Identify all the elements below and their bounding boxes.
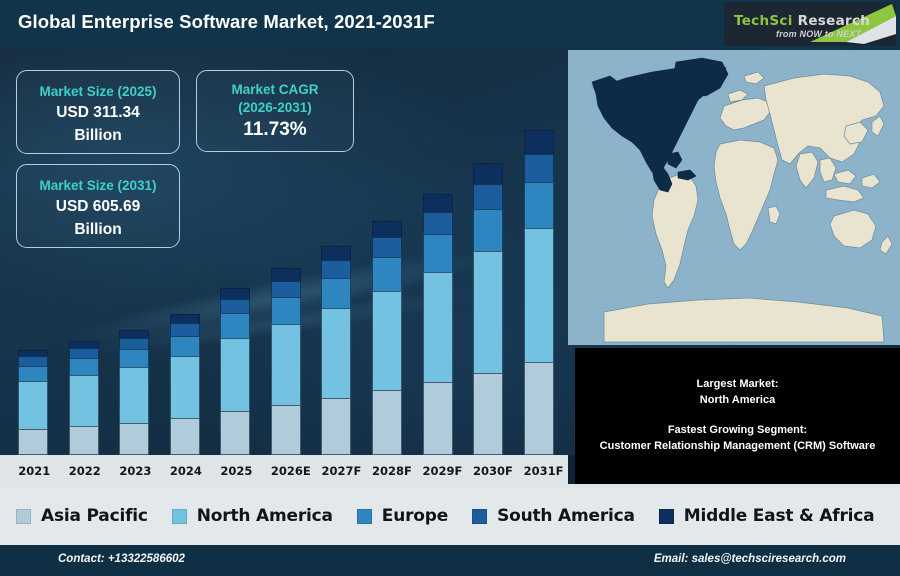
- bar-segment: [69, 375, 99, 427]
- bar-segment: [473, 251, 503, 373]
- x-axis-tick-label: 2022: [69, 464, 99, 478]
- stat-card-market-size-2031: Market Size (2031) USD 605.69 Billion: [16, 164, 180, 248]
- bar-segment: [119, 423, 149, 455]
- bar-segment: [170, 314, 200, 323]
- bar-segment: [372, 237, 402, 257]
- infographic-root: Global Enterprise Software Market, 2021-…: [0, 0, 900, 576]
- x-axis-tick-label: 2023: [119, 464, 149, 478]
- bar-column: [18, 350, 48, 455]
- x-axis-tick-label: 2028F: [372, 464, 402, 478]
- bar-column: [473, 163, 503, 455]
- chart-legend: Asia PacificNorth AmericaEuropeSouth Ame…: [0, 487, 900, 545]
- bar-segment: [321, 246, 351, 260]
- techsci-research-logo: TechSci Research from NOW to NEXT: [724, 2, 896, 46]
- bar-column: [69, 341, 99, 455]
- bar-segment: [220, 299, 250, 314]
- legend-swatch-icon: [472, 509, 487, 524]
- legend-label: South America: [497, 506, 635, 526]
- bar-segment: [524, 182, 554, 228]
- legend-swatch-icon: [172, 509, 187, 524]
- legend-swatch-icon: [16, 509, 31, 524]
- bar-segment: [220, 338, 250, 411]
- bar-segment: [524, 228, 554, 363]
- stat-value-line1: USD 605.69: [17, 195, 179, 218]
- logo-text-techsci: TechSci: [734, 13, 793, 29]
- bar-segment: [18, 381, 48, 429]
- bar-column: [220, 288, 250, 455]
- bar-segment: [473, 209, 503, 250]
- bar-segment: [321, 398, 351, 455]
- bar-segment: [220, 288, 250, 299]
- legend-item[interactable]: Europe: [357, 506, 448, 526]
- legend-swatch-icon: [357, 509, 372, 524]
- x-axis-tick-label: 2027F: [321, 464, 351, 478]
- logo-text-research: Research: [793, 13, 871, 29]
- bar-segment: [119, 367, 149, 423]
- legend-label: North America: [197, 506, 333, 526]
- stat-card-market-size-2025: Market Size (2025) USD 311.34 Billion: [16, 70, 180, 154]
- bar-segment: [271, 281, 301, 297]
- legend-swatch-icon: [659, 509, 674, 524]
- stat-value-line2: Billion: [17, 218, 179, 241]
- x-axis-tick-label: 2026E: [271, 464, 301, 478]
- stat-card-market-cagr: Market CAGR (2026-2031) 11.73%: [196, 70, 354, 152]
- bar-segment: [69, 358, 99, 375]
- bar-segment: [69, 341, 99, 348]
- bar-segment: [372, 221, 402, 237]
- stat-value-cagr: 11.73%: [197, 119, 353, 141]
- bar-segment: [473, 373, 503, 455]
- fastest-segment-value: Customer Relationship Management (CRM) S…: [575, 439, 900, 455]
- map-highlight-north-america: [592, 58, 728, 192]
- bar-segment: [69, 426, 99, 455]
- bar-segment: [372, 291, 402, 391]
- largest-market-label: Largest Market:: [575, 377, 900, 393]
- bar-segment: [372, 257, 402, 291]
- footer-bar: Contact: +13322586602 Email: sales@techs…: [0, 545, 900, 576]
- bar-segment: [423, 212, 453, 234]
- page-title: Global Enterprise Software Market, 2021-…: [18, 11, 435, 33]
- bar-column: [321, 246, 351, 455]
- bar-segment: [18, 366, 48, 382]
- x-axis-labels: 202120222023202420252026E2027F2028F2029F…: [8, 455, 564, 487]
- stat-label: Market Size (2031): [17, 177, 179, 195]
- bar-column: [119, 330, 149, 455]
- legend-label: Middle East & Africa: [684, 506, 875, 526]
- legend-item[interactable]: Middle East & Africa: [659, 506, 875, 526]
- x-axis-tick-label: 2031F: [524, 464, 554, 478]
- world-map: [568, 50, 900, 345]
- bar-column: [170, 314, 200, 455]
- legend-label: Europe: [382, 506, 448, 526]
- footer-contact: Contact: +13322586602: [58, 553, 185, 565]
- bar-column: [423, 194, 453, 455]
- x-axis-tick-label: 2029F: [423, 464, 453, 478]
- bar-segment: [170, 356, 200, 418]
- legend-item[interactable]: North America: [172, 506, 333, 526]
- legend-label: Asia Pacific: [41, 506, 148, 526]
- bar-segment: [271, 297, 301, 324]
- key-insights-box: Largest Market: North America Fastest Gr…: [575, 348, 900, 484]
- bar-segment: [170, 336, 200, 357]
- bar-segment: [220, 411, 250, 455]
- x-axis-tick-label: 2030F: [473, 464, 503, 478]
- bar-segment: [271, 324, 301, 405]
- bar-segment: [423, 194, 453, 212]
- logo-wordmark: TechSci Research: [734, 13, 870, 29]
- footer-email: Email: sales@techsciresearch.com: [654, 553, 846, 565]
- stat-value-line1: USD 311.34: [17, 101, 179, 124]
- bar-segment: [321, 308, 351, 398]
- bar-column: [524, 130, 554, 455]
- bar-segment: [119, 349, 149, 367]
- x-axis-tick-label: 2025: [220, 464, 250, 478]
- stat-value-line2: Billion: [17, 124, 179, 147]
- world-map-svg: [568, 50, 900, 345]
- stat-label: Market CAGR: [197, 81, 353, 99]
- bar-segment: [220, 313, 250, 337]
- bar-segment: [321, 278, 351, 308]
- bar-segment: [18, 429, 48, 455]
- largest-market-value: North America: [575, 393, 900, 409]
- bar-column: [271, 268, 301, 455]
- bar-segment: [423, 272, 453, 383]
- bar-segment: [423, 234, 453, 271]
- stat-label-period: (2026-2031): [197, 99, 353, 117]
- bar-segment: [119, 338, 149, 349]
- logo-tagline: from NOW to NEXT: [776, 29, 861, 39]
- info-spacer: [575, 409, 900, 423]
- header-bar: Global Enterprise Software Market, 2021-…: [0, 0, 900, 48]
- fastest-segment-label: Fastest Growing Segment:: [575, 423, 900, 439]
- bar-segment: [524, 362, 554, 455]
- bar-segment: [321, 260, 351, 278]
- bar-segment: [271, 405, 301, 455]
- x-axis-tick-label: 2021: [18, 464, 48, 478]
- bar-column: [372, 221, 402, 455]
- x-axis-strip: 202120222023202420252026E2027F2028F2029F…: [0, 455, 568, 487]
- legend-item[interactable]: Asia Pacific: [16, 506, 148, 526]
- x-axis-tick-label: 2024: [170, 464, 200, 478]
- bar-segment: [18, 356, 48, 365]
- bar-segment: [372, 390, 402, 455]
- stat-label: Market Size (2025): [17, 83, 179, 101]
- bar-segment: [69, 348, 99, 358]
- bar-segment: [170, 418, 200, 455]
- legend-item[interactable]: South America: [472, 506, 635, 526]
- bar-segment: [271, 268, 301, 280]
- bar-segment: [524, 154, 554, 182]
- bar-segment: [119, 330, 149, 338]
- bar-segment: [423, 382, 453, 455]
- bar-segment: [473, 163, 503, 184]
- bar-segment: [473, 184, 503, 209]
- bar-segment: [170, 323, 200, 335]
- bar-segment: [524, 130, 554, 154]
